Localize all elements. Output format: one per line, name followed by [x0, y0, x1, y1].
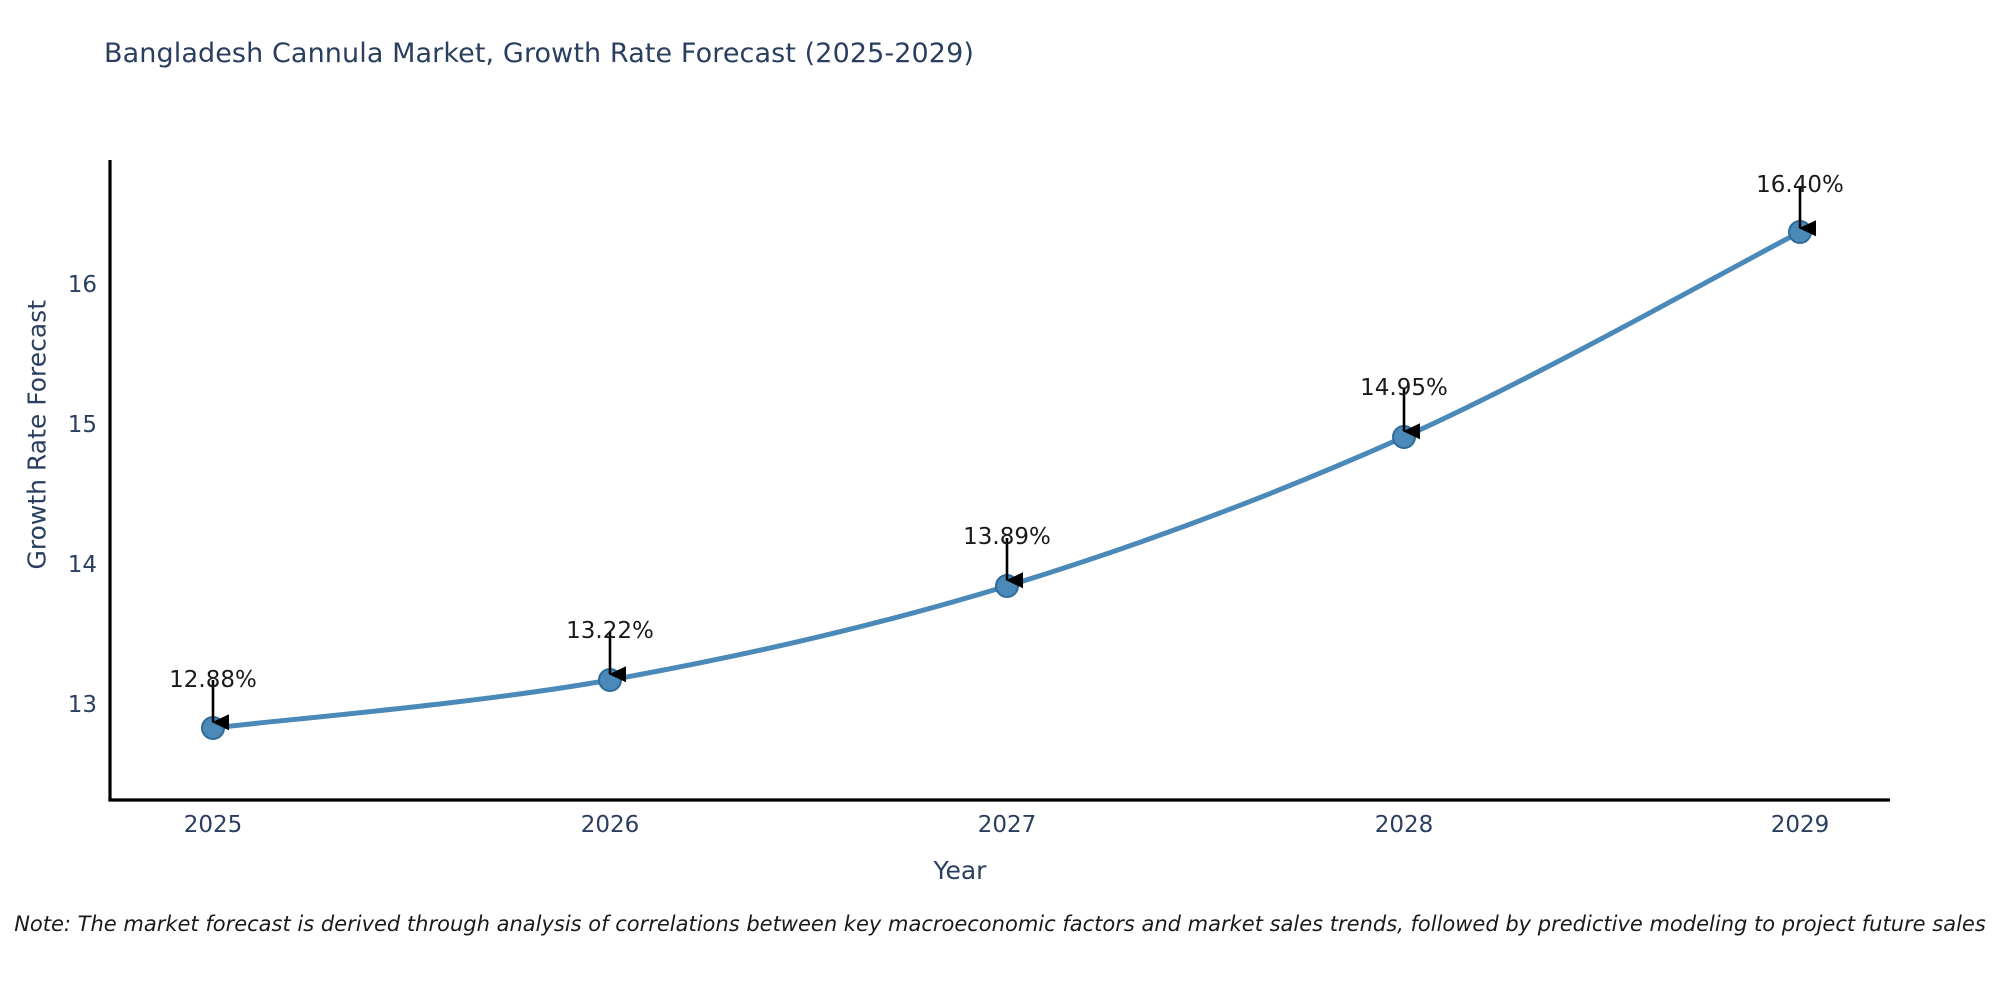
x-tick-label: 2025	[184, 812, 243, 838]
data-point-marker[interactable]	[1789, 221, 1811, 243]
forecast-line	[213, 232, 1800, 728]
y-tick-label: 14	[68, 552, 97, 578]
data-point-label: 12.88%	[169, 667, 257, 693]
line-chart: Bangladesh Cannula Market, Growth Rate F…	[0, 0, 2000, 1000]
y-axis-title: Growth Rate Forecast	[23, 310, 52, 570]
plot-area	[0, 0, 2000, 1000]
x-tick-label: 2028	[1375, 812, 1434, 838]
x-tick-label: 2026	[581, 812, 640, 838]
data-point-marker[interactable]	[1393, 426, 1415, 448]
data-point-label: 13.22%	[566, 618, 654, 644]
y-tick-label: 15	[68, 412, 97, 438]
data-point-label: 14.95%	[1360, 375, 1448, 401]
chart-title: Bangladesh Cannula Market, Growth Rate F…	[104, 38, 974, 69]
x-axis-title: Year	[110, 856, 1810, 885]
data-point-marker[interactable]	[996, 575, 1018, 597]
data-point-label: 16.40%	[1756, 172, 1844, 198]
data-point-label: 13.89%	[963, 524, 1051, 550]
x-tick-label: 2029	[1771, 812, 1830, 838]
y-tick-label: 13	[68, 692, 97, 718]
data-point-marker[interactable]	[599, 669, 621, 691]
chart-note: Note: The market forecast is derived thr…	[0, 912, 2000, 936]
y-tick-label: 16	[68, 272, 97, 298]
data-point-marker[interactable]	[202, 717, 224, 739]
x-tick-label: 2027	[978, 812, 1037, 838]
